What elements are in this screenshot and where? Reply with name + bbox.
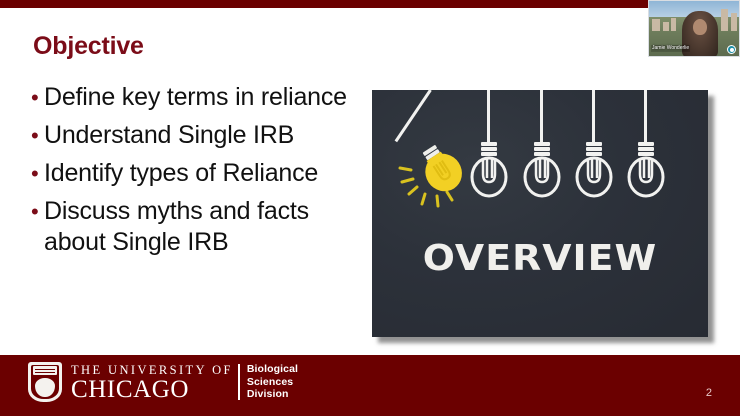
- list-item: • Identify types of Reliance: [28, 158, 373, 189]
- list-item-label: Discuss myths and facts about Single IRB: [44, 196, 373, 258]
- overview-caption: OVERVIEW: [364, 238, 717, 279]
- building-shape: [652, 19, 660, 31]
- bullet-dot-icon: •: [28, 82, 44, 113]
- overview-image: OVERVIEW: [372, 90, 708, 337]
- building-shape: [731, 13, 737, 31]
- building-shape: [663, 22, 669, 31]
- wordmark-line-1: THE UNIVERSITY OF: [71, 363, 233, 377]
- lightbulb-unlit-icon: [519, 142, 565, 200]
- list-item: • Discuss myths and facts about Single I…: [28, 196, 373, 258]
- video-status-icon[interactable]: [727, 45, 736, 54]
- bullet-dot-icon: •: [28, 158, 44, 189]
- lightbulb-unlit-icon: [571, 142, 617, 200]
- shield-crest-icon: [28, 362, 62, 402]
- webcam-video-tile[interactable]: Jamie Wonderlie: [648, 0, 740, 57]
- building-shape: [721, 9, 728, 31]
- bulb-cord: [540, 90, 543, 143]
- university-wordmark: THE UNIVERSITY OF CHICAGO: [71, 363, 233, 402]
- top-accent-bar: [0, 0, 740, 8]
- wordmark-line-2: CHICAGO: [71, 377, 233, 402]
- lightbulb-lit-icon: [394, 142, 476, 212]
- webcam-face: [693, 19, 707, 35]
- list-item-label: Identify types of Reliance: [44, 158, 373, 189]
- page-title: Objective: [33, 32, 144, 61]
- lightbulb-unlit-icon: [623, 142, 669, 200]
- footer-bar: THE UNIVERSITY OF CHICAGO Biological Sci…: [0, 355, 740, 416]
- lightbulb-unlit-icon: [466, 142, 512, 200]
- division-line-2: Sciences: [247, 376, 298, 389]
- participant-name-label: Jamie Wonderlie: [651, 45, 690, 52]
- list-item-label: Understand Single IRB: [44, 120, 373, 151]
- page-number: 2: [706, 387, 712, 399]
- division-name: Biological Sciences Division: [247, 363, 298, 401]
- list-item-label: Define key terms in reliance: [44, 82, 373, 113]
- bulb-cord: [644, 90, 647, 143]
- logo-divider: [238, 364, 240, 400]
- division-line-1: Biological: [247, 363, 298, 376]
- university-logo: THE UNIVERSITY OF CHICAGO Biological Sci…: [28, 362, 298, 402]
- bulb-cord: [592, 90, 595, 143]
- list-item: • Define key terms in reliance: [28, 82, 373, 113]
- slide-canvas: Objective • Define key terms in reliance…: [0, 0, 740, 416]
- bullet-dot-icon: •: [28, 120, 44, 151]
- bulb-cord: [395, 89, 432, 142]
- bulb-cord: [487, 90, 490, 143]
- list-item: • Understand Single IRB: [28, 120, 373, 151]
- bullet-list: • Define key terms in reliance • Underst…: [28, 82, 373, 265]
- bullet-dot-icon: •: [28, 196, 44, 227]
- building-shape: [671, 18, 676, 31]
- chalkboard-background: OVERVIEW: [372, 90, 708, 337]
- division-line-3: Division: [247, 388, 298, 401]
